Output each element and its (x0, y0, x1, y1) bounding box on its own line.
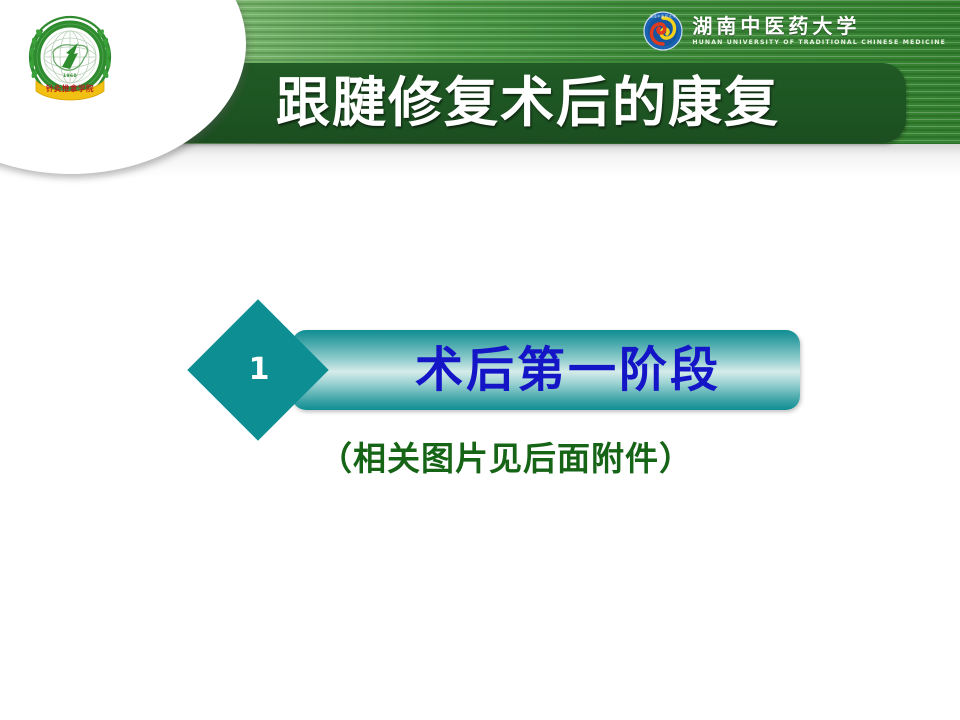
university-wordmark: 湖南中医药大学 HUNAN UNIVERSITY OF TRADITIONAL … (692, 16, 946, 46)
presentation-slide: 跟腱修复术后的康复 (0, 0, 960, 720)
svg-text:1960: 1960 (63, 73, 77, 79)
university-name-en: HUNAN UNIVERSITY OF TRADITIONAL CHINESE … (692, 40, 946, 46)
slide-content: 术后第一阶段 1 （相关图片见后面附件） (0, 148, 960, 720)
step-number: 1 (196, 308, 320, 432)
university-seal-icon: 湖南中医药大学 (643, 11, 683, 51)
svg-text:针灸推拿学院: 针灸推拿学院 (46, 83, 94, 93)
step-number-badge: 1 (196, 308, 320, 432)
slide-header: 跟腱修复术后的康复 (0, 0, 960, 148)
step-label: 术后第一阶段 (292, 330, 800, 410)
university-name-cn: 湖南中医药大学 (692, 16, 946, 36)
college-emblem-icon: 针灸推拿学院 1960 (22, 13, 118, 109)
step-banner-group: 术后第一阶段 1 (196, 308, 816, 438)
svg-text:湖南中医药大学: 湖南中医药大学 (650, 13, 677, 18)
step-note: （相关图片见后面附件） (196, 440, 816, 478)
page-title: 跟腱修复术后的康复 (150, 63, 906, 143)
university-logo: 湖南中医药大学 湖南中医药大学 HUNAN UNIVERSITY OF TRAD… (643, 8, 946, 54)
